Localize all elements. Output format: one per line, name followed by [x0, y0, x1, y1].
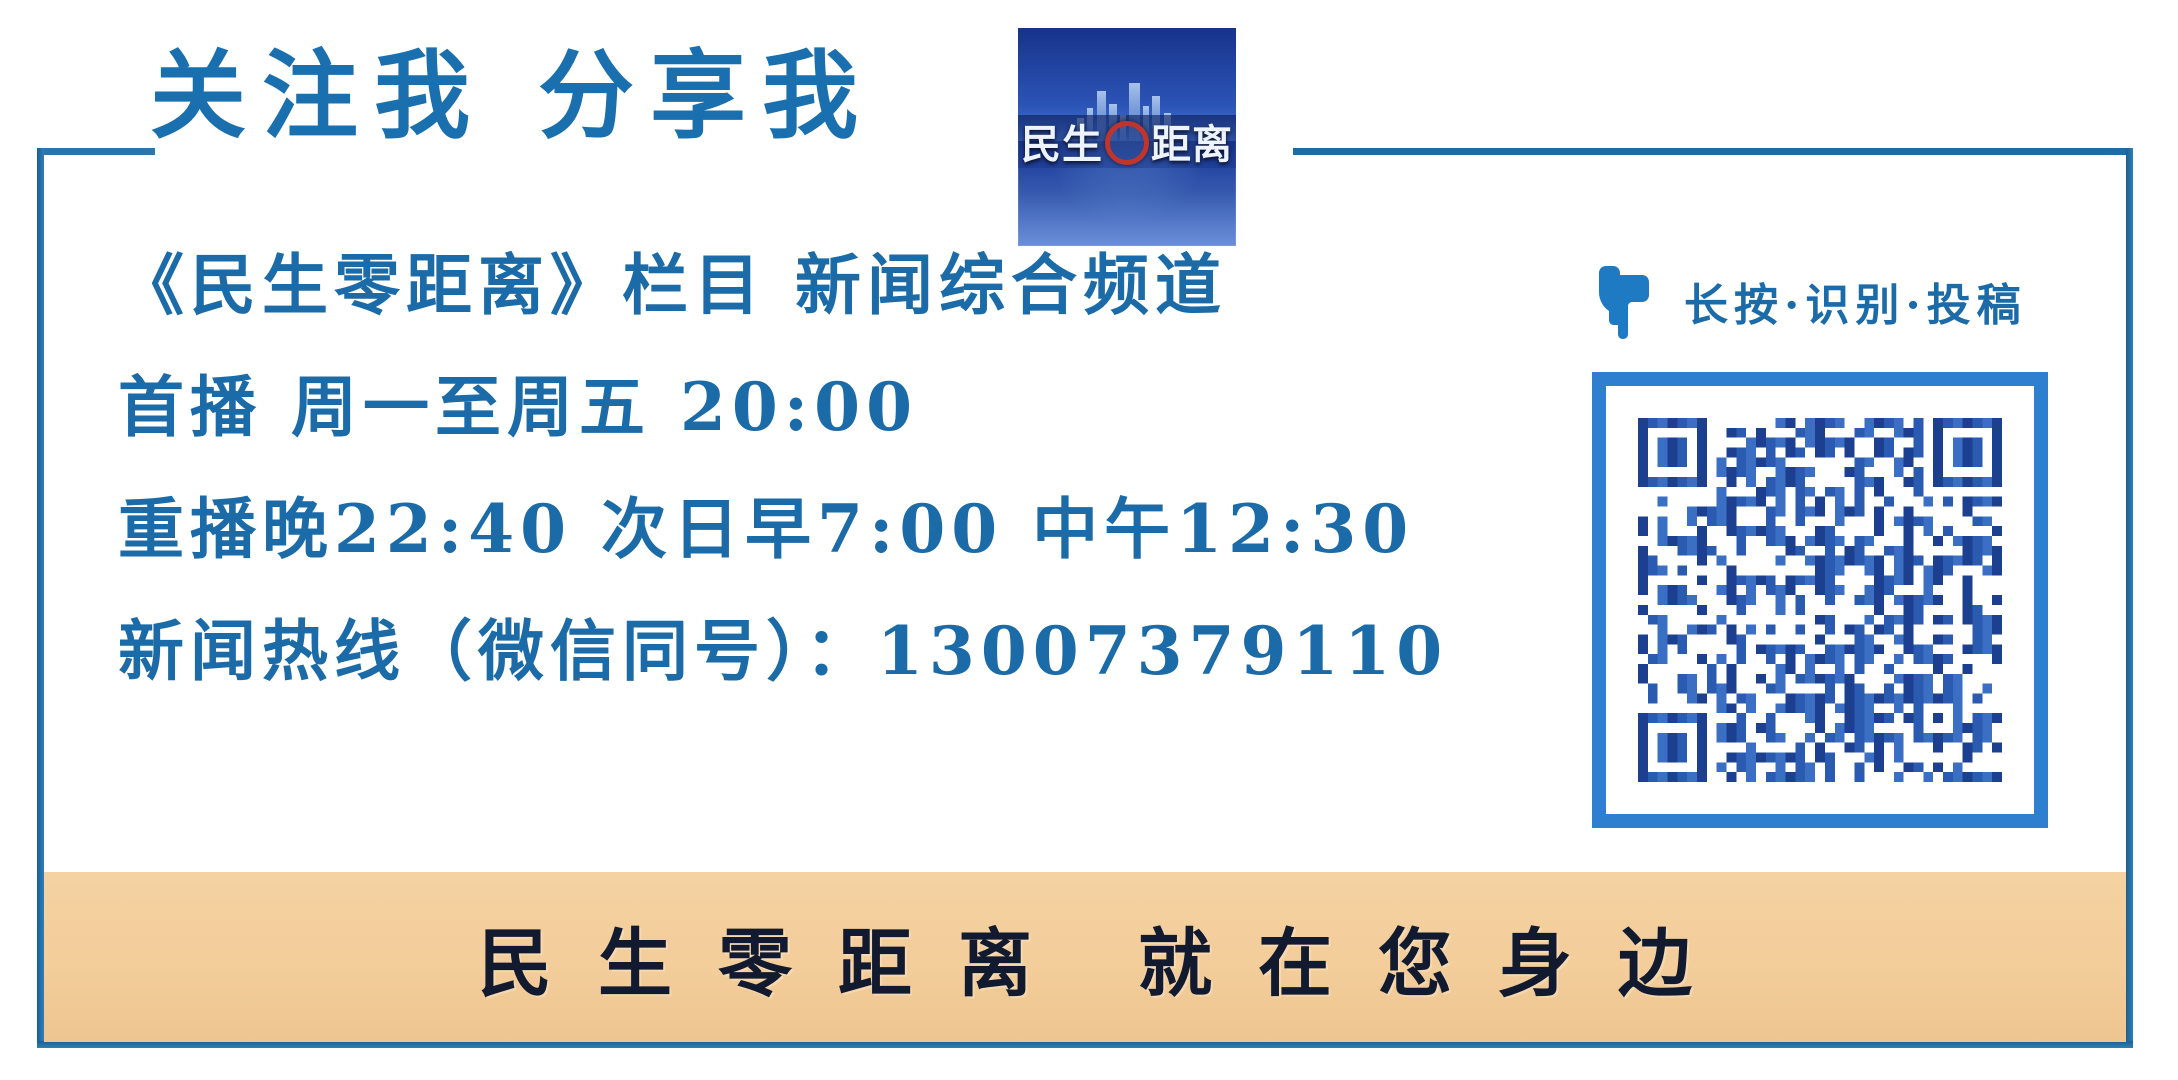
news-hotline-line: 新闻热线（微信同号）：13007379110: [118, 618, 1438, 684]
premiere-time-line: 首播 周一至周五 20:00: [118, 374, 1438, 440]
rerun-time-line: 重播晚22:40 次日早7:00 中午12:30: [118, 496, 1438, 562]
logo-water-reflection: [1018, 168, 1236, 246]
frame-left-edge: [37, 148, 44, 1048]
footer-banner: 民生零距离就在您身边: [44, 872, 2126, 1042]
frame-top-right-segment: [1293, 148, 2133, 155]
qr-code[interactable]: [1592, 372, 2048, 828]
pointing-down-hand-icon: [1596, 262, 1658, 340]
promo-poster: 关注我分享我 民生距离 《民生零距离》栏目 新闻综合频道 首播 周一至周五 20…: [0, 0, 2178, 1080]
logo-wordmark-right: 距离: [1151, 112, 1233, 170]
footer-slogan: 民生零距离就在您身边: [432, 904, 1738, 1011]
frame-bottom-edge: [37, 1041, 2133, 1048]
scan-hint-label: 长按·识别·投稿: [1684, 269, 2027, 333]
scan-hint: 长按·识别·投稿: [1596, 262, 2027, 340]
headline: 关注我分享我: [150, 48, 874, 144]
program-logo: 民生距离: [1018, 28, 1236, 246]
logo-wordmark: 民生距离: [1018, 115, 1236, 167]
qr-code-image: [1638, 418, 2002, 782]
logo-ring-icon: [1105, 121, 1149, 165]
footer-slogan-left: 民生零距离: [478, 921, 1078, 1007]
frame-top-left-segment: [37, 148, 155, 155]
frame-right-edge: [2126, 148, 2133, 1048]
headline-follow: 关注我: [150, 39, 486, 152]
program-channel-line: 《民生零距离》栏目 新闻综合频道: [118, 252, 1438, 318]
program-info-block: 《民生零距离》栏目 新闻综合频道 首播 周一至周五 20:00 重播晚22:40…: [118, 252, 1438, 740]
logo-wordmark-left: 民生: [1021, 112, 1103, 170]
headline-share: 分享我: [538, 39, 874, 152]
footer-slogan-right: 就在您身边: [1138, 921, 1738, 1007]
